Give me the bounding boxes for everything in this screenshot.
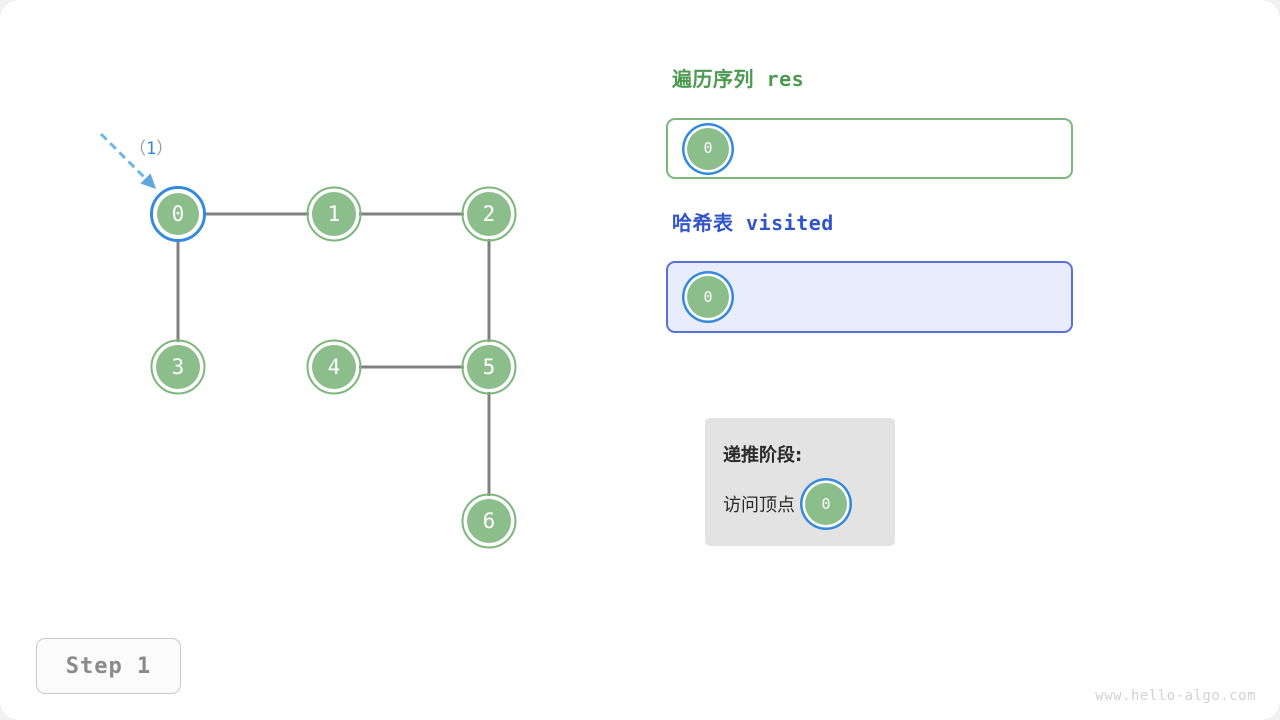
visit-arrow-label-close: ） [156, 139, 173, 159]
watermark: www.hello-algo.com [1095, 688, 1256, 704]
res-heading: 遍历序列 res [672, 63, 804, 92]
graph-node-5[interactable]: 5 [463, 341, 516, 394]
phase-action-text: 访问顶点 [723, 491, 795, 517]
visit-arrow-label-num: 1 [146, 139, 156, 159]
graph-node-5-label: 5 [483, 355, 496, 379]
res-array-box: 0 [666, 118, 1073, 179]
graph-node-6[interactable]: 6 [463, 495, 516, 548]
visited-node-0: 0 [687, 276, 729, 318]
graph-node-0-label: 0 [172, 202, 185, 226]
graph-node-4-label: 4 [328, 355, 341, 379]
graph-svg: （1） 0 1 [0, 0, 640, 720]
step-badge-label: Step 1 [66, 654, 151, 679]
graph-node-3[interactable]: 3 [152, 341, 205, 394]
graph-node-4[interactable]: 4 [308, 341, 361, 394]
graph-node-1-label: 1 [328, 202, 341, 226]
visited-node-0-label: 0 [703, 290, 712, 305]
visit-arrow-label-open: （ [129, 139, 146, 159]
visited-heading: 哈希表 visited [672, 207, 834, 236]
phase-node-0: 0 [805, 483, 847, 525]
phase-title: 递推阶段: [723, 441, 802, 467]
diagram-canvas: （1） 0 1 [0, 0, 1280, 720]
res-node-0: 0 [687, 128, 729, 170]
graph-node-6-label: 6 [483, 509, 496, 533]
graph-node-3-label: 3 [172, 355, 185, 379]
phase-info-box: 递推阶段: 访问顶点 0 [705, 418, 895, 546]
phase-node-0-label: 0 [821, 497, 830, 512]
res-cell-0: 0 [687, 128, 729, 170]
graph-node-2[interactable]: 2 [463, 188, 516, 241]
visited-hash-box: 0 [666, 261, 1073, 333]
visit-arrow-label: （1） [129, 139, 173, 159]
graph-node-1[interactable]: 1 [308, 188, 361, 241]
graph-node-0[interactable]: 0 [152, 188, 205, 241]
graph-node-2-label: 2 [483, 202, 496, 226]
res-node-0-label: 0 [703, 141, 712, 156]
visited-cell-0: 0 [687, 276, 729, 318]
phase-action-row: 访问顶点 0 [723, 483, 847, 525]
graph-panel: （1） 0 1 [0, 0, 640, 720]
state-panel: 遍历序列 res 0 哈希表 visited 0 递推阶段: 访问顶点 0 [666, 0, 1280, 720]
step-badge: Step 1 [36, 638, 181, 694]
